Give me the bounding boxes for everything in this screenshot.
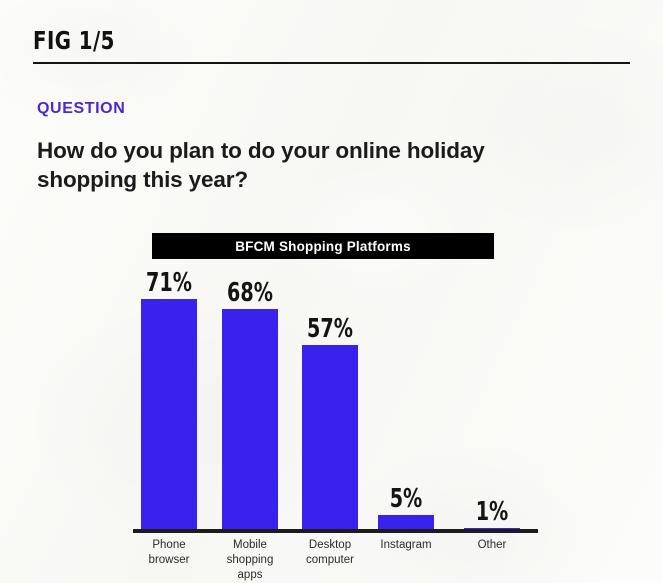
bar-rect[interactable] bbox=[302, 345, 358, 531]
x-axis-tick-label: Other bbox=[449, 538, 535, 553]
x-axis-tick-line: Phone bbox=[126, 538, 212, 553]
figure-page: FIG 1/5 QUESTION How do you plan to do y… bbox=[0, 0, 663, 583]
x-axis-tick-line: browser bbox=[126, 553, 212, 568]
bar-value-label: 57% bbox=[307, 316, 353, 342]
x-axis-tick-label: Phonebrowser bbox=[126, 538, 212, 568]
x-axis-tick-label: Mobileshoppingapps bbox=[207, 538, 293, 583]
bar-value-label: 5% bbox=[390, 486, 423, 512]
x-axis-tick-line: computer bbox=[287, 553, 373, 568]
chart-title: BFCM Shopping Platforms bbox=[235, 239, 411, 254]
bar-value-label: 68% bbox=[227, 280, 273, 306]
x-axis-tick-line: Instagram bbox=[363, 538, 449, 553]
chart-plot-area: 71%68%57%5%1% bbox=[133, 270, 538, 531]
bar-rect[interactable] bbox=[222, 309, 278, 531]
chart-title-bar: BFCM Shopping Platforms bbox=[152, 233, 494, 259]
x-axis-tick-line: Other bbox=[449, 538, 535, 553]
x-axis-tick-line: Mobile bbox=[207, 538, 293, 553]
bar-chart: BFCM Shopping Platforms 71%68%57%5%1% Ph… bbox=[0, 0, 663, 583]
bar-value-label: 1% bbox=[476, 499, 509, 525]
x-axis-tick-line: apps bbox=[207, 568, 293, 583]
x-axis-tick-label: Desktopcomputer bbox=[287, 538, 373, 568]
bar-rect[interactable] bbox=[141, 299, 197, 531]
x-axis-tick-line: Desktop bbox=[287, 538, 373, 553]
x-axis-tick-line: shopping bbox=[207, 553, 293, 568]
chart-axis-line bbox=[133, 529, 538, 533]
bar-value-label: 71% bbox=[146, 270, 192, 296]
x-axis-tick-label: Instagram bbox=[363, 538, 449, 553]
